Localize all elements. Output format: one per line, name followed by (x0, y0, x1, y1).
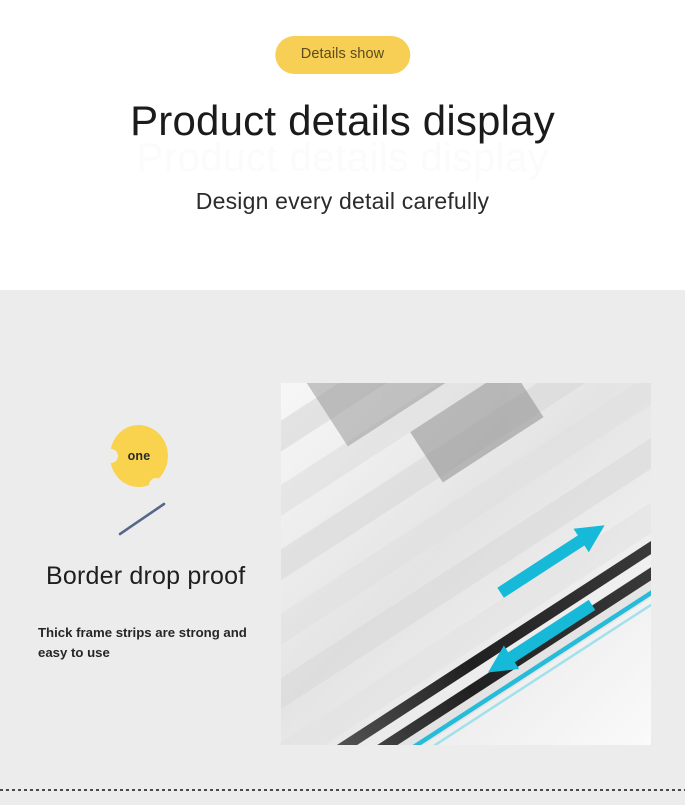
page-title: Product details display (0, 96, 685, 146)
feature-text-column: one Border drop proof Thick frame strips… (0, 290, 281, 805)
page-subtitle: Design every detail carefully (0, 188, 685, 215)
feature-heading: Border drop proof (46, 562, 245, 591)
section-divider (0, 789, 685, 791)
step-marker-one: one (110, 425, 168, 487)
accent-diagonal-line (118, 502, 166, 536)
product-photo (281, 383, 651, 745)
hero-section: Details show Product details display Pro… (0, 0, 685, 290)
step-marker-label: one (110, 425, 168, 487)
page-title-block: Product details display Product details … (0, 96, 685, 162)
feature-description: Thick frame strips are strong and easy t… (38, 623, 253, 663)
feature-section: one Border drop proof Thick frame strips… (0, 290, 685, 805)
details-show-badge: Details show (275, 36, 410, 74)
